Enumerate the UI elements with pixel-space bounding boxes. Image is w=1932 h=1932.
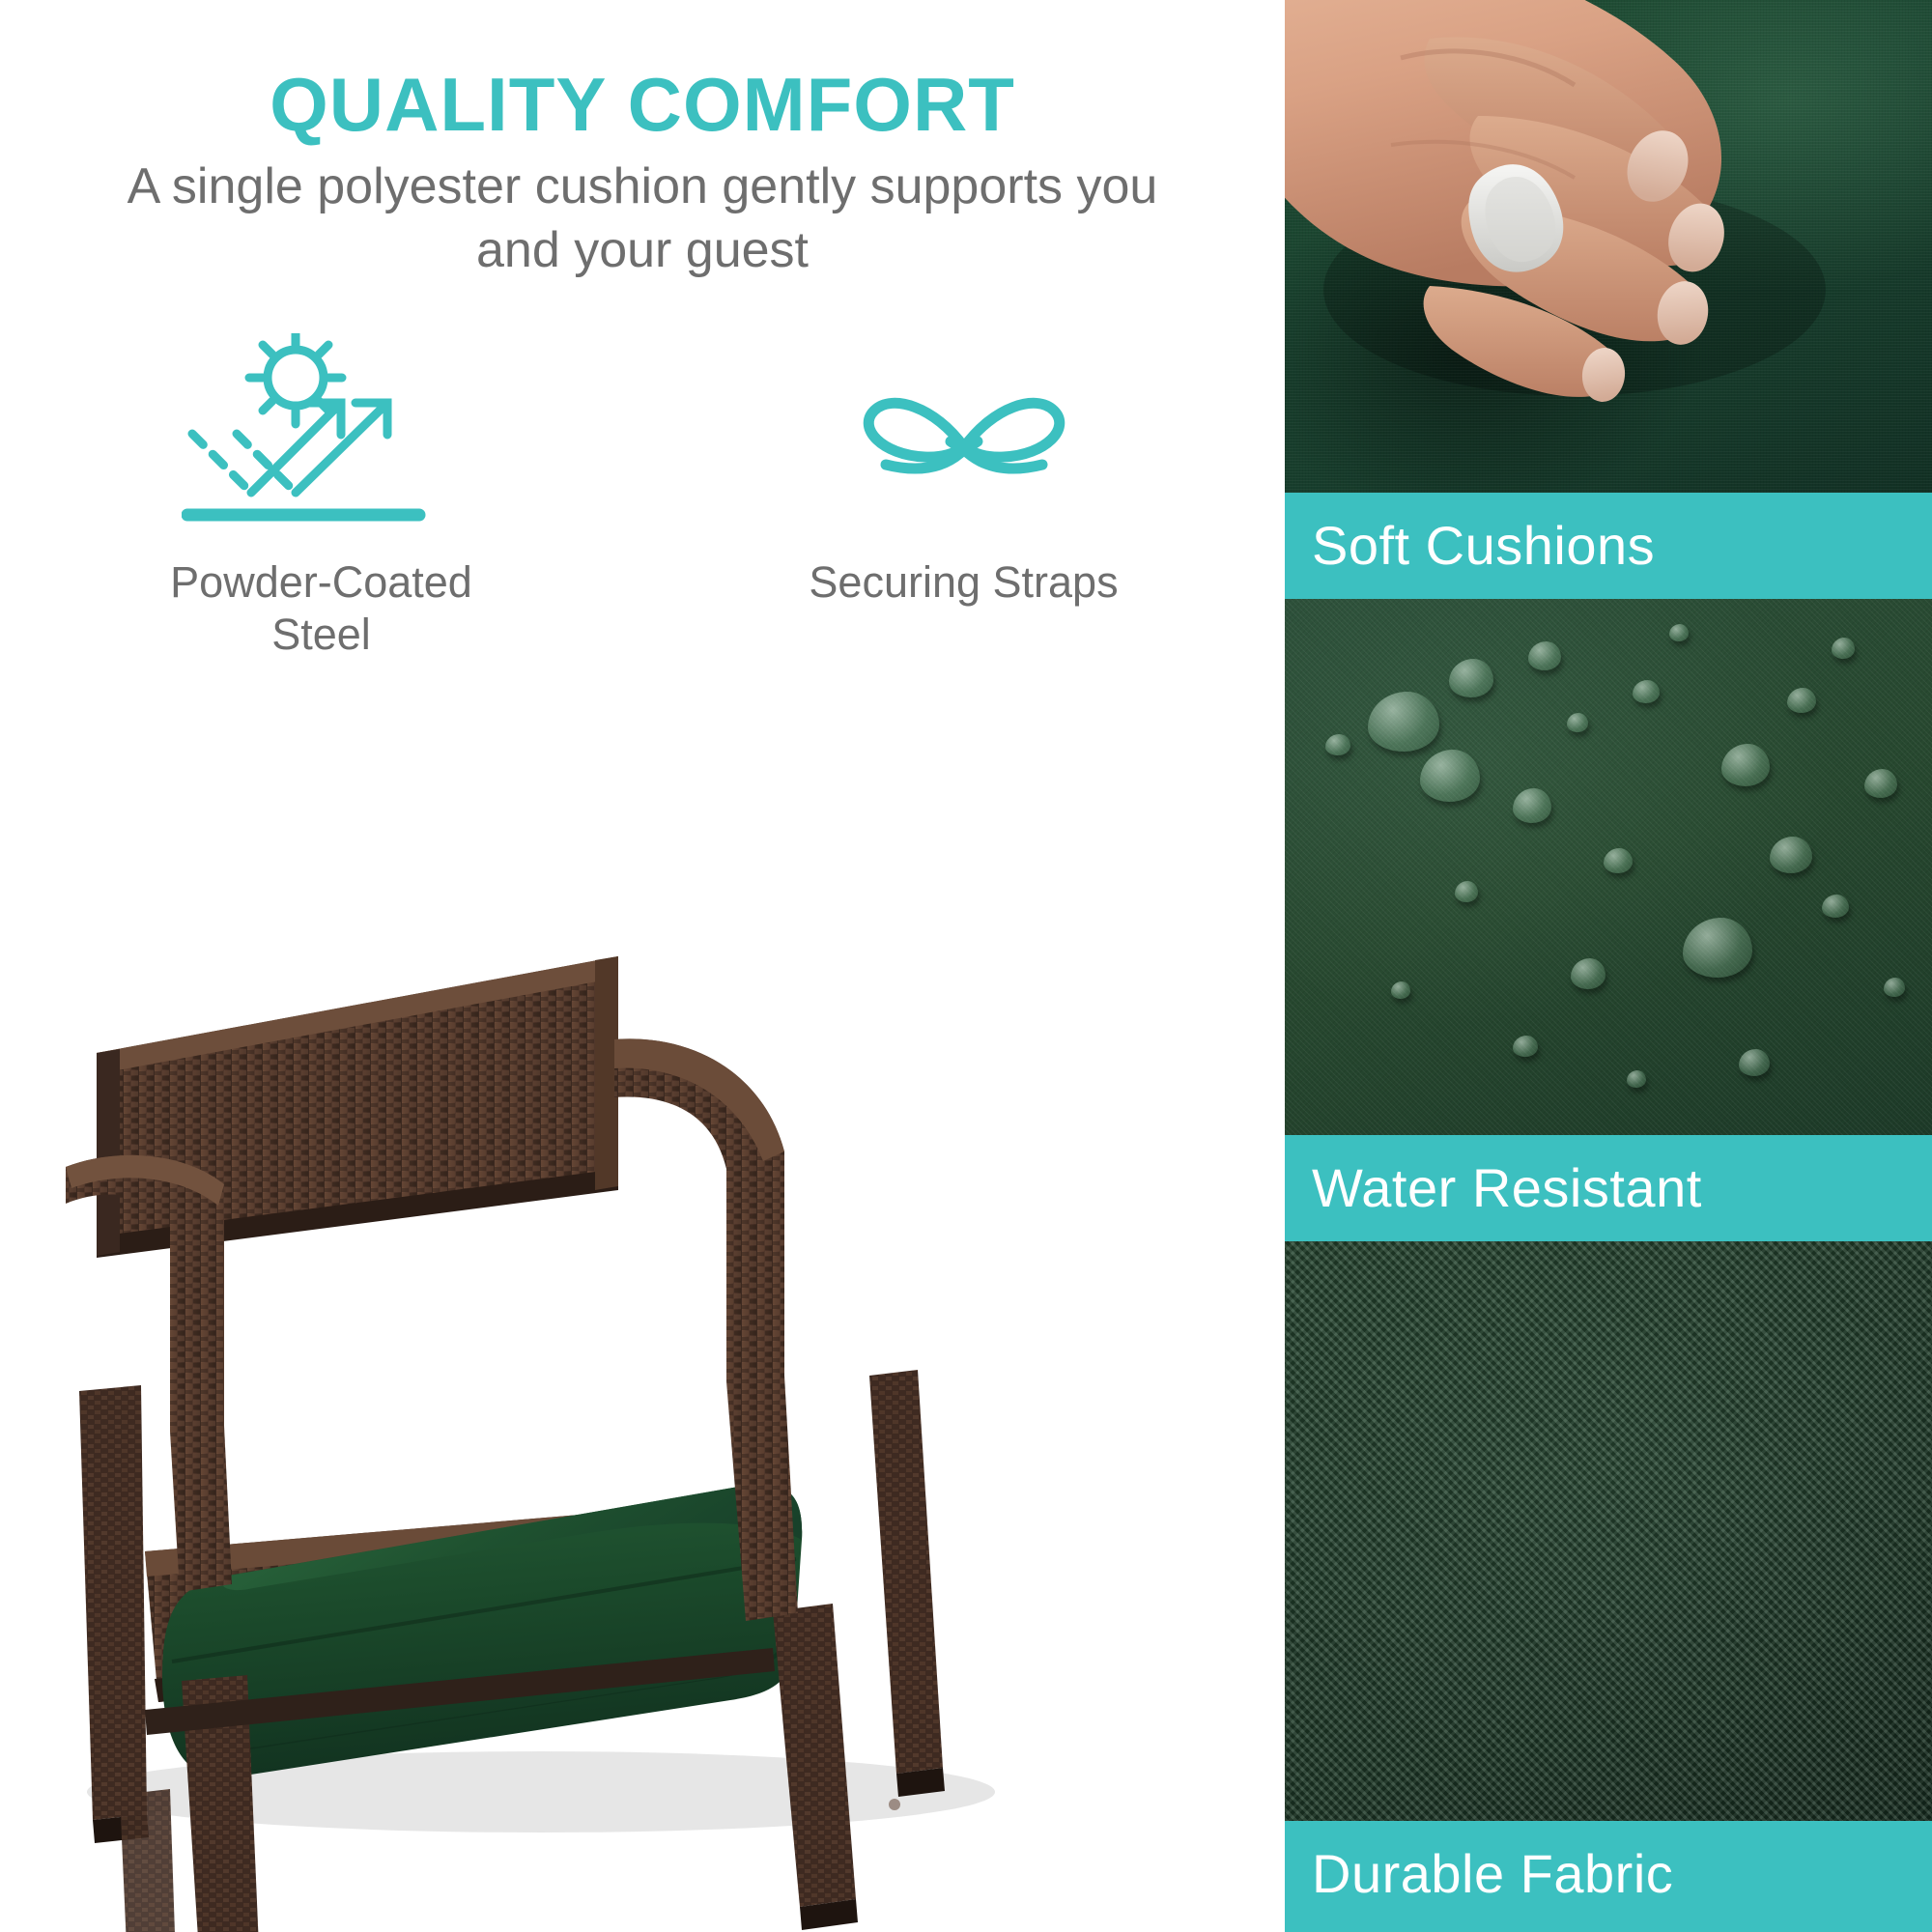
feature-label: Securing Straps [809,556,1118,609]
feature-card-soft-cushions: Soft Cushions [1285,0,1932,599]
feature-card-caption: Durable Fabric [1285,1821,1932,1932]
sun-uv-reflect-icon [182,328,462,531]
feature-powder-coated-steel: Powder-Coated Steel [0,328,642,715]
feature-card-water-resistant: Water Resistant [1285,599,1932,1241]
product-photo [0,715,1285,1932]
feature-card-caption: Soft Cushions [1285,493,1932,599]
water-droplets-photo [1285,599,1932,1135]
fabric-weave-photo [1285,1241,1932,1821]
hand-on-cushion-photo [1285,0,1932,493]
page-subtitle: A single polyester cushion gently suppor… [87,155,1198,282]
feature-card-column: Soft Cushions [1285,0,1932,1932]
ribbon-bow-icon [824,328,1104,531]
feature-label: Powder-Coated Steel [119,556,525,661]
feature-icon-row: Powder-Coated Steel [0,328,1285,715]
feature-securing-straps: Securing Straps [642,328,1285,715]
feature-card-durable-fabric: Durable Fabric [1285,1241,1932,1932]
feature-card-caption: Water Resistant [1285,1135,1932,1241]
marketing-infographic: QUALITY COMFORT A single polyester cushi… [0,0,1932,1932]
page-title: QUALITY COMFORT [0,60,1285,149]
left-panel: QUALITY COMFORT A single polyester cushi… [0,0,1285,1932]
